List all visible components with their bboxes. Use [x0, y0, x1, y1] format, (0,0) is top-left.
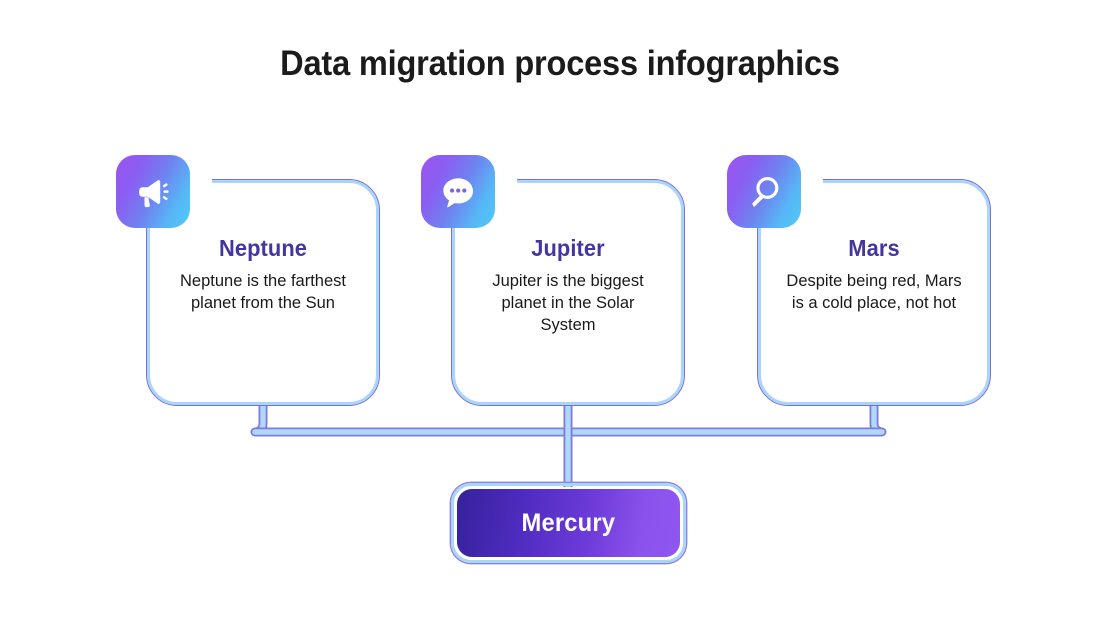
slide-title: Data migration process infographics: [39, 44, 1081, 84]
card-neptune-title: Neptune: [165, 235, 361, 262]
summary-button-mercury[interactable]: Mercury: [451, 483, 686, 563]
card-mars-text: Despite being red, Mars is a cold place,…: [771, 270, 977, 314]
summary-button-fill: Mercury: [457, 489, 680, 557]
card-jupiter-title: Jupiter: [470, 235, 666, 262]
card-jupiter-text: Jupiter is the biggest planet in the Sol…: [465, 270, 671, 336]
card-neptune-text: Neptune is the farthest planet from the …: [160, 270, 366, 314]
chat-bubble-icon[interactable]: [421, 155, 495, 228]
card-mars-body: Mars Despite being red, Mars is a cold p…: [771, 235, 977, 314]
summary-button-label: Mercury: [522, 509, 616, 538]
connector-path-left: [256, 406, 263, 433]
magnifier-icon[interactable]: [727, 155, 801, 228]
megaphone-icon[interactable]: [116, 155, 190, 228]
card-jupiter-body: Jupiter Jupiter is the biggest planet in…: [465, 235, 671, 336]
infographic-slide: Data migration process infographics: [0, 0, 1120, 630]
card-mars-title: Mars: [776, 235, 972, 262]
card-neptune-body: Neptune Neptune is the farthest planet f…: [160, 235, 366, 314]
connector-left: [255, 410, 266, 437]
